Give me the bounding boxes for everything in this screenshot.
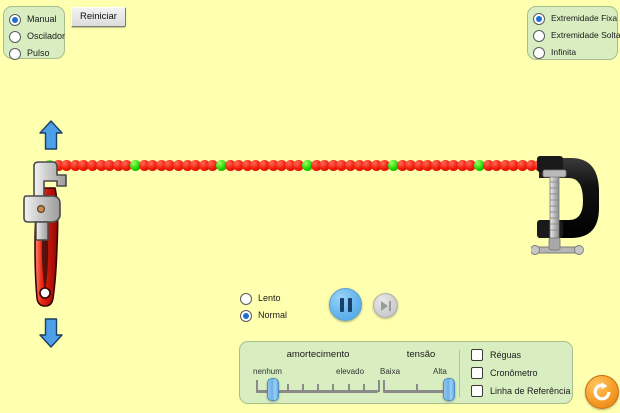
mode-panel: Manual Oscilador Pulso xyxy=(3,6,65,59)
arrow-up-icon xyxy=(38,120,64,150)
bottom-control-panel: amortecimento nenhum elevado tensão Baix… xyxy=(239,341,573,404)
tension-slider-handle[interactable] xyxy=(443,378,455,401)
checkbox-icon-reference-line[interactable] xyxy=(471,385,483,397)
radio-label-oscilador: Oscilador xyxy=(27,31,65,42)
radio-option-fixed-end[interactable]: Extremidade Fixa xyxy=(533,10,617,27)
wave-string[interactable] xyxy=(0,160,620,190)
damping-min-label: nenhum xyxy=(253,367,282,376)
simulation-stage: Manual Oscilador Pulso Reiniciar Extremi… xyxy=(0,0,620,413)
tension-slider-title: tensão xyxy=(380,349,462,360)
radio-icon-oscilador[interactable] xyxy=(9,31,21,43)
radio-label-infinite: Infinita xyxy=(551,47,576,58)
slider-tick xyxy=(332,384,334,392)
damping-max-label: elevado xyxy=(336,367,364,376)
slider-tick xyxy=(383,380,385,392)
checkbox-icon-timer[interactable] xyxy=(471,367,483,379)
wrench-tool[interactable] xyxy=(22,160,74,310)
checkbox-label-reference-line: Linha de Referência xyxy=(490,386,571,396)
checkbox-option-rulers[interactable]: Réguas xyxy=(471,346,571,364)
step-forward-button[interactable] xyxy=(373,293,398,318)
slider-tick xyxy=(363,384,365,392)
radio-icon-fixed-end[interactable] xyxy=(533,13,545,25)
radio-option-infinite[interactable]: Infinita xyxy=(533,44,617,61)
radio-icon-normal[interactable] xyxy=(240,310,252,322)
slider-tick xyxy=(317,384,319,392)
radio-option-manual[interactable]: Manual xyxy=(9,11,64,28)
radio-label-lento: Lento xyxy=(258,293,281,304)
radio-label-loose-end: Extremidade Solta xyxy=(551,30,620,41)
arrow-down-icon xyxy=(38,318,64,348)
tension-min-label: Baixa xyxy=(380,367,400,376)
end-type-panel: Extremidade Fixa Extremidade Solta Infin… xyxy=(527,6,618,60)
radio-icon-pulso[interactable] xyxy=(9,48,21,60)
pause-icon xyxy=(340,298,352,312)
radio-icon-loose-end[interactable] xyxy=(533,30,545,42)
checkbox-option-timer[interactable]: Cronômetro xyxy=(471,364,571,382)
slider-tick xyxy=(302,384,304,392)
speed-radio-group: Lento Normal xyxy=(240,290,287,324)
radio-icon-lento[interactable] xyxy=(240,293,252,305)
slider-tick xyxy=(348,384,350,392)
radio-icon-infinite[interactable] xyxy=(533,47,545,59)
slider-tick xyxy=(287,384,289,392)
tension-max-label: Alta xyxy=(433,367,447,376)
display-options-group: Réguas Cronômetro Linha de Referência xyxy=(471,346,571,400)
checkbox-option-reference-line[interactable]: Linha de Referência xyxy=(471,382,571,400)
damping-slider-title: amortecimento xyxy=(252,349,384,360)
radio-option-lento[interactable]: Lento xyxy=(240,290,287,307)
reset-all-button[interactable] xyxy=(585,375,619,409)
reset-icon xyxy=(592,382,612,402)
slider-tick xyxy=(378,380,380,392)
checkbox-label-timer: Cronômetro xyxy=(490,368,538,378)
radio-option-pulso[interactable]: Pulso xyxy=(9,45,64,62)
radio-option-loose-end[interactable]: Extremidade Solta xyxy=(533,27,617,44)
panel-divider xyxy=(459,350,460,397)
radio-label-manual: Manual xyxy=(27,14,57,25)
c-clamp-tool xyxy=(531,152,605,267)
checkbox-label-rulers: Réguas xyxy=(490,350,521,360)
radio-label-pulso: Pulso xyxy=(27,48,50,59)
step-forward-icon xyxy=(381,301,391,311)
radio-icon-manual[interactable] xyxy=(9,14,21,26)
radio-label-normal: Normal xyxy=(258,310,287,321)
checkbox-icon-rulers[interactable] xyxy=(471,349,483,361)
radio-option-normal[interactable]: Normal xyxy=(240,307,287,324)
radio-label-fixed-end: Extremidade Fixa xyxy=(551,13,617,24)
slider-tick xyxy=(256,380,258,392)
pause-button[interactable] xyxy=(329,288,362,321)
damping-slider-handle[interactable] xyxy=(267,378,279,401)
slider-tick xyxy=(416,384,418,392)
restart-button[interactable]: Reiniciar xyxy=(71,7,126,27)
radio-option-oscilador[interactable]: Oscilador xyxy=(9,28,64,45)
